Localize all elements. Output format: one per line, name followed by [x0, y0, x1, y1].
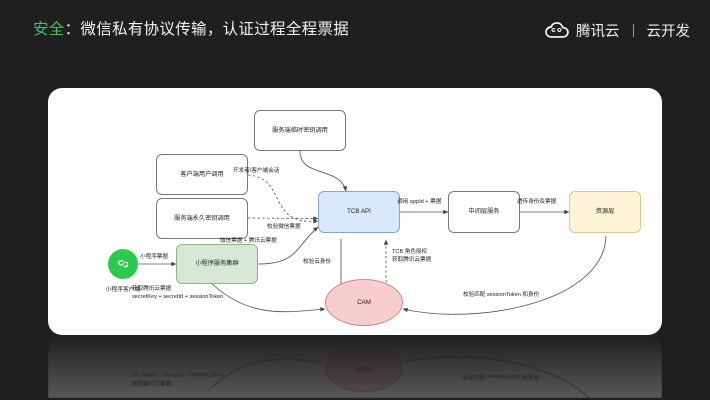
- edge-label-verify-wechat-ticket: 校验微信票据: [267, 224, 301, 232]
- title-colon: ：: [65, 21, 81, 38]
- edge-label-mp-ticket: 小程序票据: [140, 254, 168, 262]
- page-title: 安全：微信私有协议传输，认证过程全程票据: [33, 17, 349, 39]
- diagram-card: TCB API --> TCB API -->: [48, 88, 662, 335]
- architecture-diagram-reflection: CAM 获取腾讯云票据 secretKey + secretId + sessi…: [48, 336, 662, 398]
- edge-label-wechat-plus-tencent-ticket: 微信票据 + 腾讯云票据: [220, 238, 277, 246]
- node-server-temp-key[interactable]: 服务端临时密钥调用: [254, 110, 346, 151]
- edge-label-verify-match-session-reflection: 校验匹配 sessionToken 和身份: [463, 371, 539, 379]
- node-label: 小程序服务集群: [195, 260, 238, 268]
- node-label: TCB API: [347, 208, 371, 216]
- node-label: CAM: [357, 365, 371, 373]
- node-mp-service-cluster[interactable]: 小程序服务集群: [176, 244, 258, 284]
- node-server-perm-key[interactable]: 服务端永久密钥调用: [156, 198, 248, 239]
- node-cam-reflection: CAM: [325, 345, 403, 392]
- node-label: 服务端永久密钥调用: [174, 215, 230, 223]
- brand-lockup: 腾讯云 云开发: [545, 20, 690, 41]
- tencent-cloud-logo-icon: [545, 22, 569, 39]
- brand-sub-label: 云开发: [647, 20, 691, 41]
- node-label: 客户端用户调用: [180, 171, 223, 179]
- node-label: CAM: [357, 299, 371, 307]
- edge-label-call-appid-ticket: 调用 appId + 票据: [397, 199, 441, 207]
- edge-label-verify-match-session: 校验匹配 sessionToken 和身份: [463, 292, 539, 300]
- node-cam[interactable]: CAM: [325, 279, 403, 326]
- brand-separator: [633, 24, 634, 37]
- edge-label-dev-client-session: 开发者/客户端会话: [233, 168, 279, 176]
- node-tcb-api[interactable]: TCB API: [318, 191, 400, 233]
- node-label: 服务端临时密钥调用: [272, 127, 328, 135]
- card-reflection: CAM 获取腾讯云票据 secretKey + secretId + sessi…: [48, 336, 662, 398]
- title-rest: 微信私有协议传输，认证过程全程票据: [80, 21, 349, 38]
- node-label: 资源层: [596, 208, 615, 216]
- mini-program-icon[interactable]: [108, 249, 138, 279]
- architecture-diagram: TCB API --> TCB API -->: [48, 88, 662, 335]
- edge-label-get-tencent-ticket-reflection: 获取腾讯云票据 secretKey + secretId + sessionTo…: [132, 370, 223, 385]
- node-label: 中间层服务: [469, 208, 500, 216]
- edge-label-tcb-role-auth: TCB 角色授权 获取腾讯云票据: [392, 249, 431, 264]
- edge-label-passthrough-identity-ticket: 透传身份及票据: [517, 199, 556, 207]
- edge-label-get-tencent-ticket: 获取腾讯云票据 secretKey + secretId + sessionTo…: [132, 286, 223, 301]
- slide-canvas: 安全：微信私有协议传输，认证过程全程票据 腾讯云 云开发: [0, 0, 710, 400]
- node-middle-layer[interactable]: 中间层服务: [448, 191, 520, 233]
- brand-main-label: 腾讯云: [576, 20, 620, 41]
- node-resource-layer[interactable]: 资源层: [569, 191, 641, 233]
- slide-header: 安全：微信私有协议传输，认证过程全程票据 腾讯云 云开发: [0, 0, 710, 66]
- title-accent: 安全: [33, 21, 65, 38]
- card-reflection-inner: CAM 获取腾讯云票据 secretKey + secretId + sessi…: [48, 336, 662, 398]
- edge-label-verify-cloud-identity: 校验云身份: [303, 259, 331, 267]
